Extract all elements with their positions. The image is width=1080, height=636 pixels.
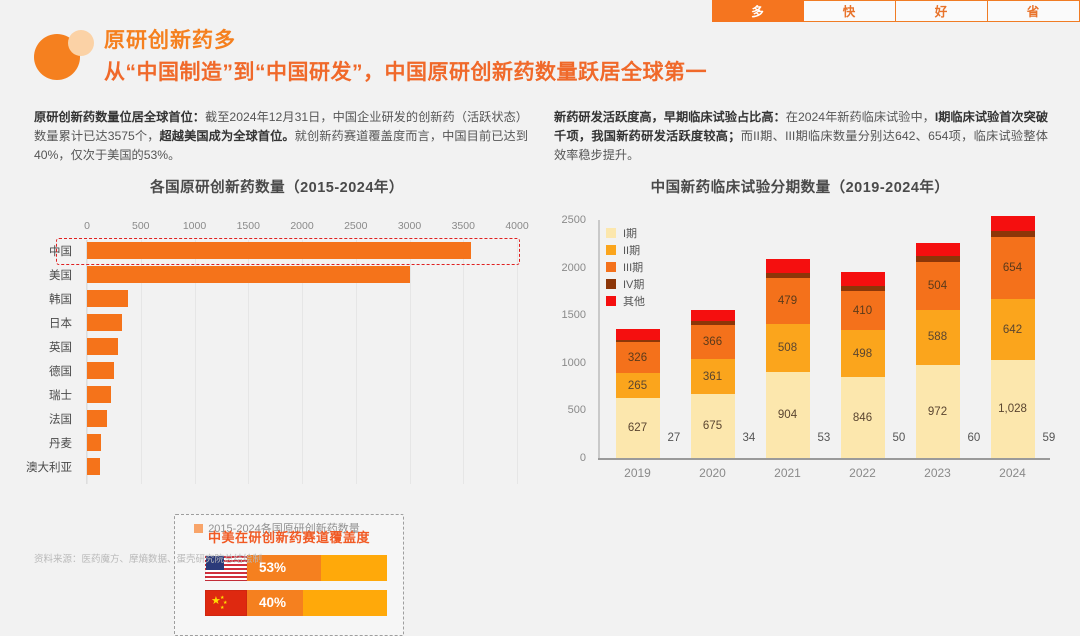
legend-swatch-icon: [606, 279, 616, 289]
cn-coverage-value: 40%: [259, 590, 286, 616]
left-chart-xtick: 1500: [237, 220, 260, 232]
country-label: 丹麦: [49, 435, 72, 451]
right-chart-xtick: 2024: [999, 466, 1026, 480]
trial-phase-iv-value: 59: [1043, 432, 1056, 444]
trial-phase-iv-value: 50: [893, 432, 906, 444]
legend-series-label: I期: [623, 225, 637, 241]
page-title: 原研创新药多: [104, 28, 707, 54]
left-chart-xtick: 3500: [452, 220, 475, 232]
trial-phase-column[interactable]: 479508904: [766, 259, 810, 458]
country-bar: [87, 242, 471, 259]
us-coverage-track: 53%: [247, 555, 387, 581]
coverage-row-cn: ★ ★ ★ ★ 40%: [205, 590, 403, 616]
cn-coverage-track: 40%: [247, 590, 387, 616]
country-bar: [87, 266, 410, 283]
right-chart-ytick: 1000: [562, 357, 586, 369]
trial-phase-segment: 410: [841, 291, 885, 330]
right-chart-ytick: 2500: [562, 214, 586, 226]
right-chart-xtick: 2019: [624, 466, 651, 480]
dots-logo-icon: [34, 30, 98, 84]
page-subtitle: 从“中国制造”到“中国研发”，中国原研创新药数量跃居全球第一: [104, 58, 707, 88]
trial-phase-segment: [766, 259, 810, 273]
country-label: 韩国: [49, 291, 72, 307]
country-label: 英国: [49, 339, 72, 355]
country-bar-row[interactable]: [87, 434, 517, 451]
legend-series-label: 其他: [623, 293, 645, 309]
trial-phase-segment: [691, 310, 735, 321]
trial-phase-segment: 479: [766, 278, 810, 324]
trial-phase-segment: 627: [616, 398, 660, 458]
left-chart-xtick: 500: [132, 220, 150, 232]
right-chart-plot-area: 3262656272736636167534479508904534104988…: [600, 220, 1050, 458]
right-chart-xtick: 2021: [774, 466, 801, 480]
left-chart-xtick: 4000: [505, 220, 528, 232]
country-bar-row[interactable]: [87, 410, 517, 427]
country-bar: [87, 458, 100, 475]
lead-paragraph-right: 新药研发活跃度高，早期临床试验占比高：在2024年新药临床试验中，I期临床试验首…: [554, 108, 1048, 165]
trial-phase-iv-value: 34: [743, 432, 756, 444]
trial-phase-column[interactable]: 504588972: [916, 243, 960, 458]
trial-phase-segment: 588: [916, 310, 960, 366]
trial-phase-segment: 972: [916, 365, 960, 458]
dot-small-icon: [68, 30, 94, 56]
country-bar-row[interactable]: [87, 338, 517, 355]
trial-phase-segment: [991, 216, 1035, 231]
right-chart-xtick: 2022: [849, 466, 876, 480]
trial-phase-segment: 642: [991, 299, 1035, 360]
trial-phase-segment: 498: [841, 330, 885, 377]
right-chart-ytick: 1500: [562, 309, 586, 321]
cn-flag-star-3-icon: ★: [220, 604, 224, 613]
country-label: 瑞士: [49, 387, 72, 403]
slide-root: 多 快 好 省 原研创新药多 从“中国制造”到“中国研发”，中国原研创新药数量跃…: [0, 0, 1080, 591]
left-chart-gridline: [517, 240, 518, 484]
right-chart-ytick: 0: [580, 452, 586, 464]
left-chart-xtick: 0: [84, 220, 90, 232]
right-chart-legend: I期II期III期IV期其他: [606, 224, 645, 309]
lead-left-emphasis: 超越美国成为全球首位。: [160, 129, 295, 143]
country-label: 日本: [49, 315, 72, 331]
trial-phase-column[interactable]: 6546421,028: [991, 216, 1035, 458]
trial-phase-column[interactable]: 326265627: [616, 329, 660, 458]
trial-phase-segment: 846: [841, 377, 885, 458]
trial-phase-segment: 265: [616, 373, 660, 398]
country-bar: [87, 434, 101, 451]
trial-phase-segment: 361: [691, 359, 735, 393]
lead-right-body-a: 在2024年新药临床试验中，: [786, 110, 935, 124]
title-block: 原研创新药多 从“中国制造”到“中国研发”，中国原研创新药数量跃居全球第一: [104, 28, 707, 88]
country-label: 澳大利亚: [26, 459, 72, 475]
right-chart-legend-item[interactable]: II期: [606, 241, 645, 258]
top-tabbar: 多 快 好 省: [712, 0, 1080, 22]
left-chart-xtick: 1000: [183, 220, 206, 232]
right-chart-xtick: 2020: [699, 466, 726, 480]
right-chart-legend-item[interactable]: I期: [606, 224, 645, 241]
trial-phase-segment: 1,028: [991, 360, 1035, 458]
lead-right-leadin: 新药研发活跃度高，早期临床试验占比高：: [554, 110, 786, 124]
right-chart-legend-item[interactable]: IV期: [606, 275, 645, 292]
country-bar: [87, 386, 111, 403]
legend-series-label: III期: [623, 259, 643, 275]
trial-phase-iv-value: 60: [968, 432, 981, 444]
cn-flag-icon: ★ ★ ★ ★: [205, 590, 247, 616]
source-note: 资料来源：医药魔方、摩熵数据、蛋壳研究院总结绘制: [34, 551, 262, 565]
trial-phase-column[interactable]: 366361675: [691, 310, 735, 458]
lead-paragraphs: 原研创新药数量位居全球首位：截至2024年12月31日，中国企业研发的创新药（活…: [34, 108, 1048, 165]
right-chart-legend-item[interactable]: 其他: [606, 292, 645, 309]
country-label: 德国: [49, 363, 72, 379]
country-label: 中国: [49, 243, 72, 259]
right-chart-xtick: 2023: [924, 466, 951, 480]
left-chart-panel: 各国原研创新药数量（2015-2024年） 050010001500200025…: [22, 176, 532, 526]
country-bar-row[interactable]: [87, 266, 517, 283]
trial-phase-segment: 366: [691, 325, 735, 360]
trial-phase-segment: 654: [991, 237, 1035, 299]
country-bar-row[interactable]: [87, 290, 517, 307]
right-chart-legend-item[interactable]: III期: [606, 258, 645, 275]
lead-paragraph-left: 原研创新药数量位居全球首位：截至2024年12月31日，中国企业研发的创新药（活…: [34, 108, 528, 165]
trial-phase-segment: [616, 329, 660, 339]
left-chart-plot-area: [87, 240, 517, 484]
trial-phase-iv-value: 27: [668, 432, 681, 444]
coverage-inset-card: 中美在研创新药赛道覆盖度 53% ★ ★ ★ ★ 40%: [174, 514, 404, 636]
trial-phase-segment: 675: [691, 394, 735, 458]
trial-phase-segment: 508: [766, 324, 810, 372]
country-bar: [87, 410, 107, 427]
legend-series-label: IV期: [623, 276, 644, 292]
coverage-inset-title: 中美在研创新药赛道覆盖度: [175, 527, 403, 546]
left-chart-xtick: 2500: [344, 220, 367, 232]
right-chart-y-axis: 05001000150020002500: [540, 220, 592, 458]
country-bar-row[interactable]: [87, 242, 517, 259]
tab-duo[interactable]: 多: [712, 0, 804, 22]
left-chart-title: 各国原研创新药数量（2015-2024年）: [22, 176, 532, 197]
lead-left-leadin: 原研创新药数量位居全球首位：: [34, 110, 205, 124]
legend-swatch-icon: [606, 245, 616, 255]
legend-swatch-icon: [606, 228, 616, 238]
trial-phase-segment: 904: [766, 372, 810, 458]
right-chart-panel: 中国新药临床试验分期数量（2019-2024年） 050010001500200…: [540, 176, 1060, 526]
legend-swatch-icon: [606, 262, 616, 272]
trial-phase-segment: 504: [916, 262, 960, 310]
country-bar-row[interactable]: [87, 314, 517, 331]
left-chart-xtick: 3000: [398, 220, 421, 232]
left-chart-xtick: 2000: [290, 220, 313, 232]
right-chart-ytick: 500: [568, 404, 586, 416]
country-bar: [87, 314, 122, 331]
country-label: 法国: [49, 411, 72, 427]
right-chart-ytick: 2000: [562, 262, 586, 274]
tab-kuai[interactable]: 快: [804, 0, 896, 22]
country-bar-chart: 05001000150020002500300035004000 中国美国韩国日…: [22, 220, 532, 490]
country-label: 美国: [49, 267, 72, 283]
trial-phase-column[interactable]: 410498846: [841, 272, 885, 458]
trial-phase-iv-value: 53: [818, 432, 831, 444]
tab-hao[interactable]: 好: [896, 0, 988, 22]
trial-phase-stacked-chart: 05001000150020002500 3262656272736636167…: [540, 220, 1060, 510]
tab-sheng[interactable]: 省: [988, 0, 1080, 22]
legend-swatch-icon: [606, 296, 616, 306]
slide-header: 原研创新药多 从“中国制造”到“中国研发”，中国原研创新药数量跃居全球第一: [34, 28, 707, 88]
us-coverage-value: 53%: [259, 555, 286, 581]
country-bar: [87, 362, 114, 379]
left-chart-x-axis: 05001000150020002500300035004000: [87, 220, 517, 236]
country-bar-row[interactable]: [87, 386, 517, 403]
country-bar-row[interactable]: [87, 362, 517, 379]
country-bar: [87, 338, 118, 355]
trial-phase-segment: 326: [616, 342, 660, 373]
legend-series-label: II期: [623, 242, 640, 258]
country-bar-row[interactable]: [87, 458, 517, 475]
right-chart-title: 中国新药临床试验分期数量（2019-2024年）: [540, 176, 1060, 197]
right-chart-x-axis-line: [598, 458, 1050, 460]
trial-phase-segment: [841, 272, 885, 286]
country-bar: [87, 290, 128, 307]
trial-phase-segment: [916, 243, 960, 256]
